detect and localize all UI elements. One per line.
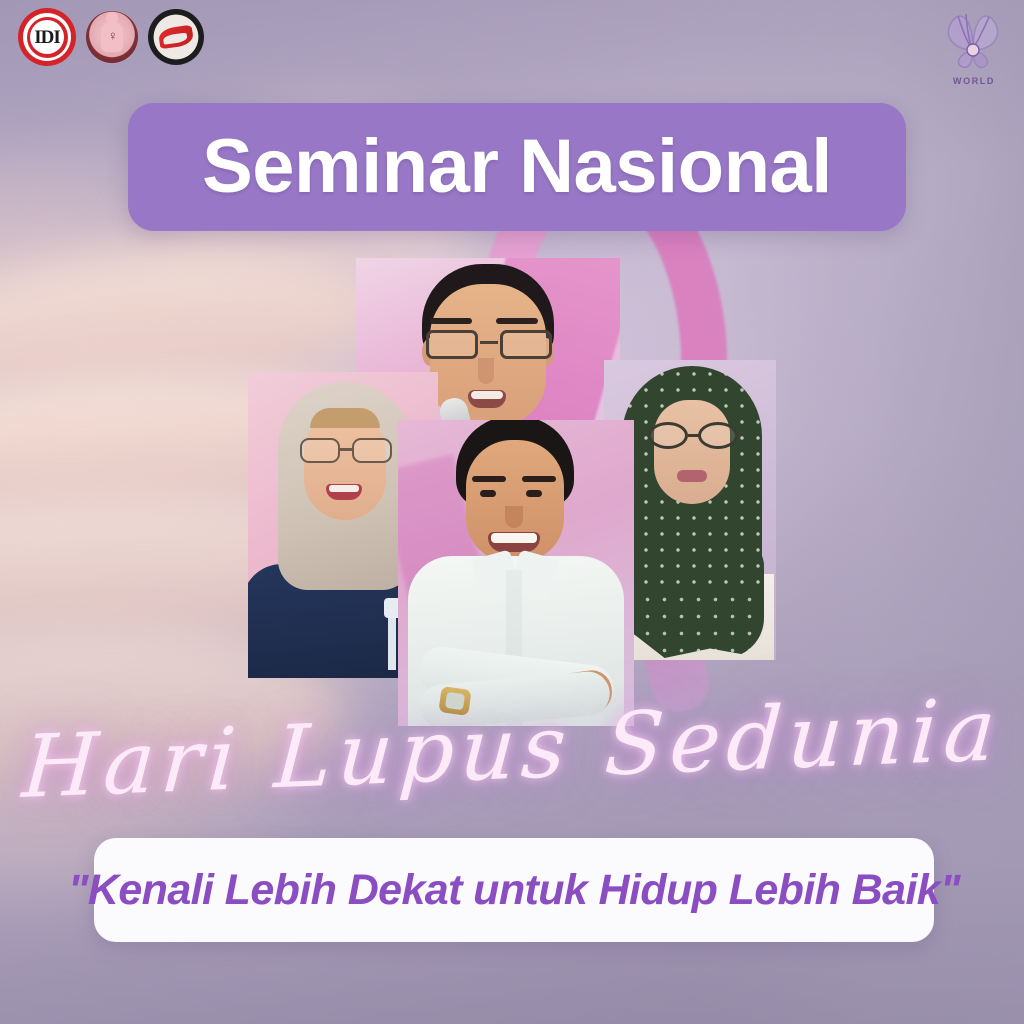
hair-bangs	[310, 408, 380, 428]
reumatologi-logo	[148, 9, 204, 65]
lens-right	[352, 438, 392, 463]
world-lupus-day-logo: WORLD	[932, 6, 1016, 92]
idi-logo-monogram: IDI	[34, 28, 60, 47]
quote-text: "Kenali Lebih Dekat untuk Hidup Lebih Ba…	[68, 869, 960, 912]
page-title: Seminar Nasional	[202, 129, 832, 205]
face	[654, 400, 730, 504]
eyeglasses-icon	[424, 330, 554, 360]
lanyard-strap	[388, 618, 396, 670]
nose	[505, 506, 523, 528]
lens-right	[698, 422, 738, 449]
eyeglasses-icon	[648, 422, 738, 450]
female-symbol-icon: ♀	[108, 29, 118, 42]
nose	[478, 358, 494, 384]
idi-logo-ring-red: IDI	[27, 17, 68, 58]
teeth	[329, 485, 359, 492]
teeth	[491, 533, 537, 543]
quote-banner: "Kenali Lebih Dekat untuk Hidup Lebih Ba…	[94, 838, 934, 942]
idi-logo-core: IDI	[30, 20, 64, 54]
world-lupus-day-label: WORLD	[932, 77, 1016, 86]
glasses-bridge	[480, 341, 498, 344]
idi-logo: IDI	[18, 8, 76, 66]
organisation-logo-strip: IDI ♀	[18, 8, 204, 66]
eyebrow-right	[496, 318, 538, 324]
seminar-title-banner: Seminar Nasional	[128, 103, 906, 231]
face	[304, 414, 386, 520]
eyebrow-left	[472, 476, 506, 482]
womens-health-logo-figure: ♀	[101, 22, 123, 52]
butterfly-icon	[932, 6, 1016, 70]
eyebrow-left	[430, 318, 472, 324]
lens-left	[648, 422, 688, 449]
idi-logo-ring-white: IDI	[23, 13, 71, 61]
eyebrow-right	[522, 476, 556, 482]
eye-right	[526, 490, 542, 497]
eyeglasses-icon	[298, 438, 394, 464]
teeth	[471, 391, 503, 399]
eye-left	[480, 490, 496, 497]
lens-left	[300, 438, 340, 463]
mouth	[677, 470, 707, 482]
reumatologi-logo-flame	[158, 25, 194, 50]
speaker-photo-man-white-shirt	[398, 420, 634, 726]
glasses-bridge	[340, 448, 352, 451]
butterfly-body	[967, 44, 979, 56]
womens-health-logo-head	[106, 12, 118, 24]
poster-canvas: IDI ♀	[0, 0, 1024, 1024]
lens-right	[500, 330, 552, 359]
womens-health-logo: ♀	[86, 11, 138, 63]
lens-left	[426, 330, 478, 359]
